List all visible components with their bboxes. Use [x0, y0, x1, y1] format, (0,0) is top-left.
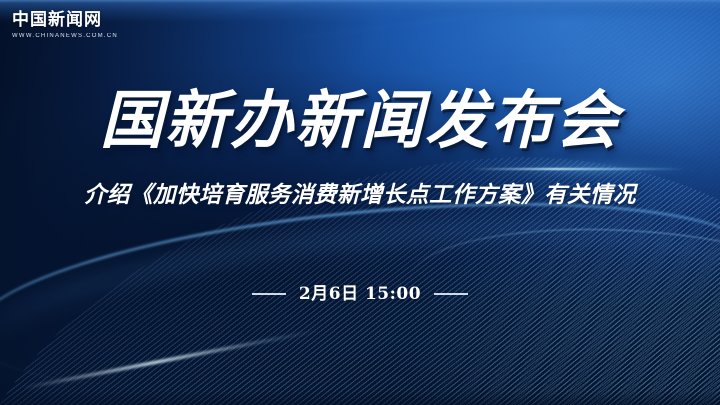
page-subtitle: 介绍《加快培育服务消费新增长点工作方案》有关情况: [0, 181, 720, 209]
edge-highlight-top: [0, 0, 720, 3]
edge-shadow-bottom: [0, 391, 720, 405]
dash-right-icon: [434, 293, 468, 295]
press-conference-banner: 中国新闻网 WWW.CHINANEWS.COM.CN 国新办新闻发布会 介绍《加…: [0, 0, 720, 405]
title-light-streak: [470, 168, 685, 170]
datetime-row: 2月6日 15:00: [0, 283, 720, 305]
chinanews-logo: 中国新闻网 WWW.CHINANEWS.COM.CN: [12, 10, 118, 41]
logo-name-cn: 中国新闻网: [12, 10, 118, 30]
event-datetime: 2月6日 15:00: [299, 283, 421, 305]
dash-left-icon: [252, 293, 286, 295]
page-title: 国新办新闻发布会: [0, 86, 720, 156]
logo-website-url: WWW.CHINANEWS.COM.CN: [12, 31, 118, 41]
